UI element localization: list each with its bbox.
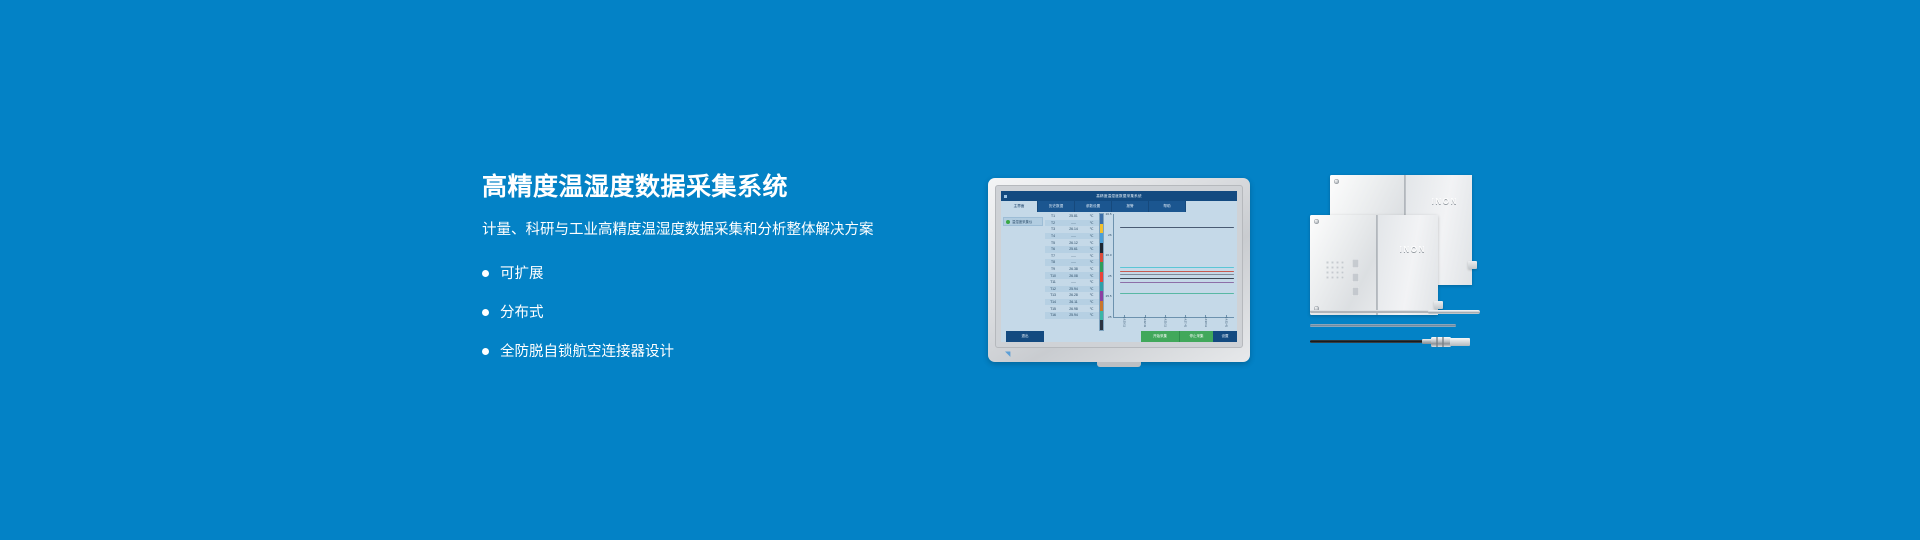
unit-cell: ℃: [1086, 287, 1097, 291]
datalogger-front-unit: INON: [1310, 215, 1438, 315]
chart-y-tick: 26: [1108, 233, 1112, 237]
legend-color-swatch: [1100, 320, 1103, 330]
port-label: [1352, 273, 1359, 282]
chart-series-line: [1120, 271, 1234, 272]
connector-port: [1468, 261, 1477, 269]
connector-socket: [1341, 276, 1344, 279]
connector-body: [1431, 337, 1451, 347]
value-cell: 25.81: [1061, 214, 1086, 218]
page-subtitle: 计量、科研与工业高精度温湿度数据采集和分析整体解决方案: [482, 220, 952, 240]
connector-port: [1434, 301, 1443, 309]
steel-probe-tip: [1428, 310, 1480, 314]
table-row[interactable]: T1225.94℃: [1045, 286, 1099, 293]
unit-cell: ℃: [1086, 241, 1097, 245]
connector-socket-grid: [1326, 261, 1344, 279]
chart-x-tick: 14:20:11: [1123, 317, 1126, 327]
blue-cable-probe: [1310, 324, 1456, 327]
value-cell: 26.28: [1061, 293, 1086, 297]
value-cell: ----: [1061, 260, 1086, 264]
app-tab-bar: 主界面 历史数据 参数设置 报警 帮助: [1001, 201, 1237, 212]
channel-cell: T9: [1045, 267, 1061, 271]
monitor-bezel: 高精度温湿度数据采集系统 主界面 历史数据 参数设置 报警 帮助 温湿度采集仪: [988, 178, 1250, 362]
table-row[interactable]: T1326.28℃: [1045, 292, 1099, 299]
chart-y-tick: 26.5: [1106, 212, 1113, 216]
feature-label: 全防脱自锁航空连接器设计: [500, 343, 674, 361]
chart-series-line: [1120, 282, 1234, 283]
channel-cell: T14: [1045, 300, 1061, 304]
table-row[interactable]: T625.61℃: [1045, 246, 1099, 253]
chart-x-tick-labels: 14:20:1114:22:4114:25:1114:27:4114:30:11…: [1113, 317, 1234, 331]
connector-socket: [1326, 261, 1329, 264]
connector-socket: [1326, 266, 1329, 269]
channel-cell: T3: [1045, 227, 1061, 231]
feature-label: 可扩展: [500, 265, 544, 283]
legend-color-swatch: [1100, 224, 1103, 234]
channel-color-legend: [1099, 213, 1104, 331]
chart-x-tick: 14:32:41: [1224, 317, 1227, 327]
banner-copy: 高精度温湿度数据采集系统 计量、科研与工业高精度温湿度数据采集和分析整体解决方案…: [482, 172, 952, 377]
unit-cell: ℃: [1086, 214, 1097, 218]
stop-acquisition-button[interactable]: 停止采集: [1179, 331, 1213, 342]
status-dot-icon: [1006, 220, 1010, 224]
channel-cell: T8: [1045, 260, 1061, 264]
channel-cell: T10: [1045, 274, 1061, 278]
connector-socket: [1331, 266, 1334, 269]
unit-cell: ℃: [1086, 260, 1097, 264]
table-row[interactable]: T1526.98℃: [1045, 305, 1099, 312]
unit-cell: ℃: [1086, 234, 1097, 238]
connector-socket: [1336, 276, 1339, 279]
channel-cell: T1: [1045, 214, 1061, 218]
monitor-product-image: 高精度温湿度数据采集系统 主界面 历史数据 参数设置 报警 帮助 温湿度采集仪: [988, 178, 1250, 362]
tab-history[interactable]: 历史数据: [1038, 201, 1075, 212]
channel-table[interactable]: T125.81℃T2----℃T326.14℃T4----℃T526.12℃T6…: [1045, 212, 1099, 331]
connector-socket: [1331, 261, 1334, 264]
chart-y-tick: 25: [1108, 274, 1112, 278]
value-cell: ----: [1061, 280, 1086, 284]
brand-logo: INON: [1432, 197, 1458, 206]
channel-cell: T7: [1045, 254, 1061, 258]
brand-logo: INON: [1400, 245, 1426, 254]
table-row[interactable]: T1625.94℃: [1045, 312, 1099, 319]
sensor-probe-images: [1310, 310, 1500, 360]
connector-socket: [1326, 271, 1329, 274]
feature-item: 全防脱自锁航空连接器设计: [482, 338, 952, 365]
app-status-bar: 退出 开始采集 停止采集 设置: [1001, 331, 1237, 342]
table-row[interactable]: T11----℃: [1045, 279, 1099, 286]
connector-socket: [1341, 261, 1344, 264]
device-tree-label: 温湿度采集仪: [1012, 219, 1032, 224]
monitor-screen: 高精度温湿度数据采集系统 主界面 历史数据 参数设置 报警 帮助 温湿度采集仪: [1001, 191, 1237, 342]
bullet-dot-icon: [482, 270, 489, 277]
table-row[interactable]: T4----℃: [1045, 233, 1099, 240]
value-cell: 25.94: [1061, 287, 1086, 291]
legend-color-swatch: [1100, 262, 1103, 272]
monitor-stand: [1097, 362, 1141, 367]
value-cell: 26.38: [1061, 267, 1086, 271]
port-label: [1352, 287, 1359, 296]
legend-color-swatch: [1100, 272, 1103, 282]
black-cable-probe: [1310, 340, 1430, 343]
table-row[interactable]: T1426.11℃: [1045, 299, 1099, 306]
table-row[interactable]: T326.14℃: [1045, 226, 1099, 233]
chart-x-tick: 14:30:11: [1204, 317, 1207, 327]
chart-series-line: [1120, 274, 1234, 275]
connector-socket: [1341, 266, 1344, 269]
tab-help[interactable]: 帮助: [1149, 201, 1186, 212]
value-cell: ----: [1061, 221, 1086, 225]
status-bar-spacer: [1044, 331, 1141, 342]
chart-series-line: [1120, 293, 1234, 294]
table-row[interactable]: T2----℃: [1045, 220, 1099, 227]
feature-list: 可扩展 分布式 全防脱自锁航空连接器设计: [482, 260, 952, 365]
connector-socket: [1336, 271, 1339, 274]
tab-settings[interactable]: 参数设置: [1075, 201, 1112, 212]
table-row[interactable]: T8----℃: [1045, 259, 1099, 266]
chart-y-tick: 25: [1108, 315, 1112, 319]
chart-plot-area: [1113, 214, 1234, 317]
legend-color-swatch: [1100, 243, 1103, 253]
screw-icon: [1314, 219, 1319, 224]
channel-cell: T12: [1045, 287, 1061, 291]
chart-x-tick: 14:27:41: [1184, 317, 1187, 327]
enclosure-front-face: [1377, 215, 1438, 315]
bullet-dot-icon: [482, 309, 489, 316]
port-label: [1352, 259, 1359, 268]
unit-cell: ℃: [1086, 313, 1097, 317]
feature-item: 可扩展: [482, 260, 952, 287]
unit-cell: ℃: [1086, 293, 1097, 297]
chart-series-line: [1120, 278, 1234, 279]
start-acquisition-button[interactable]: 开始采集: [1141, 331, 1179, 342]
chart-y-tick: 25.5: [1106, 294, 1113, 298]
channel-cell: T16: [1045, 313, 1061, 317]
channel-cell: T6: [1045, 247, 1061, 251]
exit-button[interactable]: 退出: [1006, 331, 1044, 342]
legend-color-swatch: [1100, 301, 1103, 311]
unit-cell: ℃: [1086, 300, 1097, 304]
chart-series-line: [1120, 267, 1234, 268]
port-label-column: [1352, 259, 1359, 296]
value-cell: ----: [1061, 254, 1086, 258]
table-row[interactable]: T1026.08℃: [1045, 272, 1099, 279]
app-title: 高精度温湿度数据采集系统: [1001, 194, 1237, 199]
app-body: 温湿度采集仪 T125.81℃T2----℃T326.14℃T4----℃T52…: [1001, 212, 1237, 331]
product-banner: 高精度温湿度数据采集系统 计量、科研与工业高精度温湿度数据采集和分析整体解决方案…: [0, 0, 1920, 540]
chart-y-tick: 26.0: [1106, 253, 1113, 257]
tab-bar-filler: [1186, 201, 1237, 212]
unit-cell: ℃: [1086, 227, 1097, 231]
legend-color-swatch: [1100, 214, 1103, 224]
chart-x-tick: 14:25:11: [1163, 317, 1166, 327]
app-titlebar: 高精度温湿度数据采集系统: [1001, 191, 1237, 201]
tab-main[interactable]: 主界面: [1001, 201, 1038, 212]
bullet-dot-icon: [482, 348, 489, 355]
connector-socket: [1341, 271, 1344, 274]
aviation-connector: [1422, 336, 1468, 347]
value-cell: 26.98: [1061, 307, 1086, 311]
value-cell: 25.61: [1061, 247, 1086, 251]
device-tree-panel: 温湿度采集仪: [1001, 212, 1045, 331]
settings-button[interactable]: 设置: [1213, 331, 1237, 342]
channel-cell: T2: [1045, 221, 1061, 225]
channel-cell: T15: [1045, 307, 1061, 311]
connector-ring: [1436, 337, 1438, 347]
device-tree-node[interactable]: 温湿度采集仪: [1003, 217, 1043, 226]
connector-socket: [1326, 276, 1329, 279]
chart-series-line: [1120, 227, 1234, 228]
connector-socket: [1336, 266, 1339, 269]
value-cell: ----: [1061, 234, 1086, 238]
legend-color-swatch: [1100, 282, 1103, 292]
channel-cell: T11: [1045, 280, 1061, 284]
unit-cell: ℃: [1086, 307, 1097, 311]
legend-color-swatch: [1100, 311, 1103, 321]
legend-color-swatch: [1100, 253, 1103, 263]
trend-chart: 26.52626.02525.525 14:20:1114:22:4114:25…: [1105, 212, 1237, 331]
connector-ring: [1442, 337, 1444, 347]
value-cell: 26.11: [1061, 300, 1086, 304]
unit-cell: ℃: [1086, 280, 1097, 284]
connector-sheath: [1450, 338, 1470, 346]
unit-cell: ℃: [1086, 267, 1097, 271]
channel-cell: T4: [1045, 234, 1061, 238]
table-row[interactable]: T125.81℃: [1045, 213, 1099, 220]
chart-x-tick: 14:22:41: [1143, 317, 1146, 327]
connector-socket: [1336, 261, 1339, 264]
channel-cell: T13: [1045, 293, 1061, 297]
legend-color-swatch: [1100, 291, 1103, 301]
screw-icon: [1334, 179, 1339, 184]
feature-item: 分布式: [482, 299, 952, 326]
connector-socket: [1331, 271, 1334, 274]
table-row[interactable]: T526.12℃: [1045, 239, 1099, 246]
page-title: 高精度温湿度数据采集系统: [482, 172, 952, 202]
unit-cell: ℃: [1086, 274, 1097, 278]
unit-cell: ℃: [1086, 247, 1097, 251]
value-cell: 26.08: [1061, 274, 1086, 278]
unit-cell: ℃: [1086, 254, 1097, 258]
connector-socket: [1331, 276, 1334, 279]
value-cell: 26.12: [1061, 241, 1086, 245]
legend-color-swatch: [1100, 233, 1103, 243]
feature-label: 分布式: [500, 304, 544, 322]
table-row[interactable]: T926.38℃: [1045, 266, 1099, 273]
channel-cell: T5: [1045, 241, 1061, 245]
value-cell: 26.14: [1061, 227, 1086, 231]
unit-cell: ℃: [1086, 221, 1097, 225]
table-row[interactable]: T7----℃: [1045, 253, 1099, 260]
tab-alarm[interactable]: 报警: [1112, 201, 1149, 212]
monitor-brand-logo-icon: ◥: [1005, 352, 1012, 358]
value-cell: 25.94: [1061, 313, 1086, 317]
